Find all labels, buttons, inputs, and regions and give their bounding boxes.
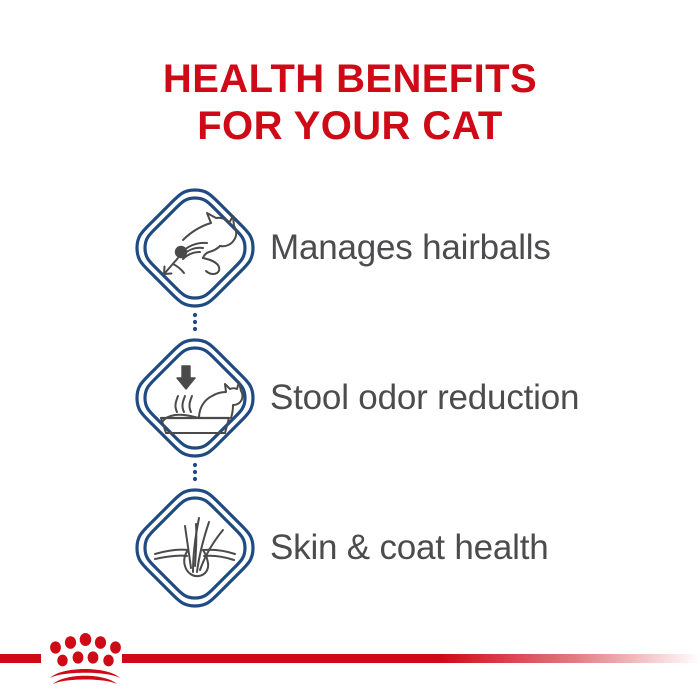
- benefit-connector-dotted-2: [192, 462, 198, 486]
- cat-hairball-icon: [164, 213, 236, 274]
- benefit-label-hairballs: Manages hairballs: [270, 186, 551, 310]
- benefit-connector-dotted-1: [192, 312, 198, 336]
- benefit-badge-skin-coat: [133, 486, 257, 610]
- footer-rule-right: [122, 654, 700, 663]
- benefit-badge-stool-odor: [133, 336, 257, 460]
- page-title: HEALTH BENEFITS FOR YOUR CAT: [0, 56, 700, 150]
- benefits-list: Manages hairballs: [0, 186, 700, 636]
- page-title-line-2: FOR YOUR CAT: [0, 103, 700, 150]
- hair-follicle-skin-icon: [155, 518, 235, 576]
- royal-canin-crown-logo: [50, 633, 121, 684]
- page-title-line-1: HEALTH BENEFITS: [0, 56, 700, 103]
- benefit-badge-hairballs: [133, 186, 257, 310]
- benefit-label-skin-coat: Skin & coat health: [270, 486, 549, 610]
- footer-rule-left: [0, 654, 41, 663]
- benefit-label-stool-odor: Stool odor reduction: [270, 336, 579, 460]
- benefit-item-skin-coat: Skin & coat health: [0, 486, 700, 636]
- benefit-item-hairballs: Manages hairballs: [0, 186, 700, 336]
- footer-brand-bar: [0, 620, 700, 700]
- benefit-item-stool-odor: Stool odor reduction: [0, 336, 700, 486]
